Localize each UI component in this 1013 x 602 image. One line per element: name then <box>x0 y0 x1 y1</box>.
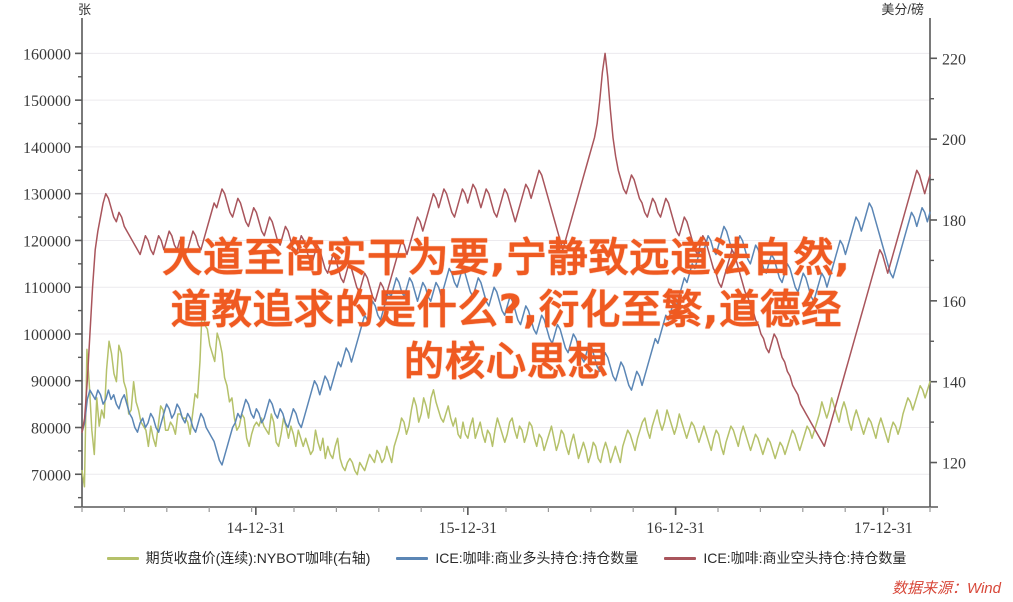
left-axis-tick-label: 130000 <box>23 187 71 204</box>
x-axis-tick-label: 16-12-31 <box>646 520 705 537</box>
left-axis-tick-label: 80000 <box>31 421 71 438</box>
legend-swatch-icon <box>396 557 428 560</box>
legend-item-1[interactable]: 期货收盘价(连续):NYBOT咖啡(右轴) <box>107 548 371 568</box>
left-axis-tick-label: 100000 <box>23 327 71 344</box>
right-axis-tick-label: 120 <box>942 456 966 473</box>
data-source-label: 数据来源：Wind <box>892 577 1001 598</box>
legend-item-label: 期货收盘价(连续):NYBOT咖啡(右轴) <box>146 548 371 568</box>
legend-item-label: ICE:咖啡:商业多头持仓:持仓数量 <box>435 548 638 568</box>
right-axis-tick-label: 180 <box>942 213 966 230</box>
right-axis-unit-label: 美分/磅 <box>881 2 924 17</box>
x-axis-tick-label: 15-12-31 <box>439 520 498 537</box>
legend-item-label: ICE:咖啡:商业空头持仓:持仓数量 <box>703 548 906 568</box>
plot-background <box>82 30 930 507</box>
legend-swatch-icon <box>664 557 696 560</box>
x-axis-tick-label: 14-12-31 <box>227 520 286 537</box>
coffee-positions-chart: 7000080000900001000001100001200001300001… <box>0 0 1013 602</box>
left-axis-tick-label: 120000 <box>23 233 71 250</box>
left-axis-tick-label: 150000 <box>23 93 71 110</box>
right-axis-tick-label: 140 <box>942 375 966 392</box>
left-axis-tick-label: 160000 <box>23 46 71 63</box>
chart-canvas: 7000080000900001000001100001200001300001… <box>0 0 1013 602</box>
chart-legend: 期货收盘价(连续):NYBOT咖啡(右轴)ICE:咖啡:商业多头持仓:持仓数量I… <box>0 548 1013 568</box>
legend-item-2[interactable]: ICE:咖啡:商业多头持仓:持仓数量 <box>396 548 638 568</box>
legend-item-3[interactable]: ICE:咖啡:商业空头持仓:持仓数量 <box>664 548 906 568</box>
legend-swatch-icon <box>107 557 139 560</box>
right-axis-tick-label: 220 <box>942 51 966 68</box>
left-axis-tick-label: 140000 <box>23 140 71 157</box>
x-axis-tick-label: 17-12-31 <box>854 520 913 537</box>
left-axis-tick-label: 70000 <box>31 467 71 484</box>
left-axis-unit-label: 张 <box>78 2 91 17</box>
right-axis-tick-label: 200 <box>942 132 966 149</box>
right-axis-tick-label: 160 <box>942 294 966 311</box>
left-axis-tick-label: 110000 <box>24 280 71 297</box>
left-axis-tick-label: 90000 <box>31 374 71 391</box>
